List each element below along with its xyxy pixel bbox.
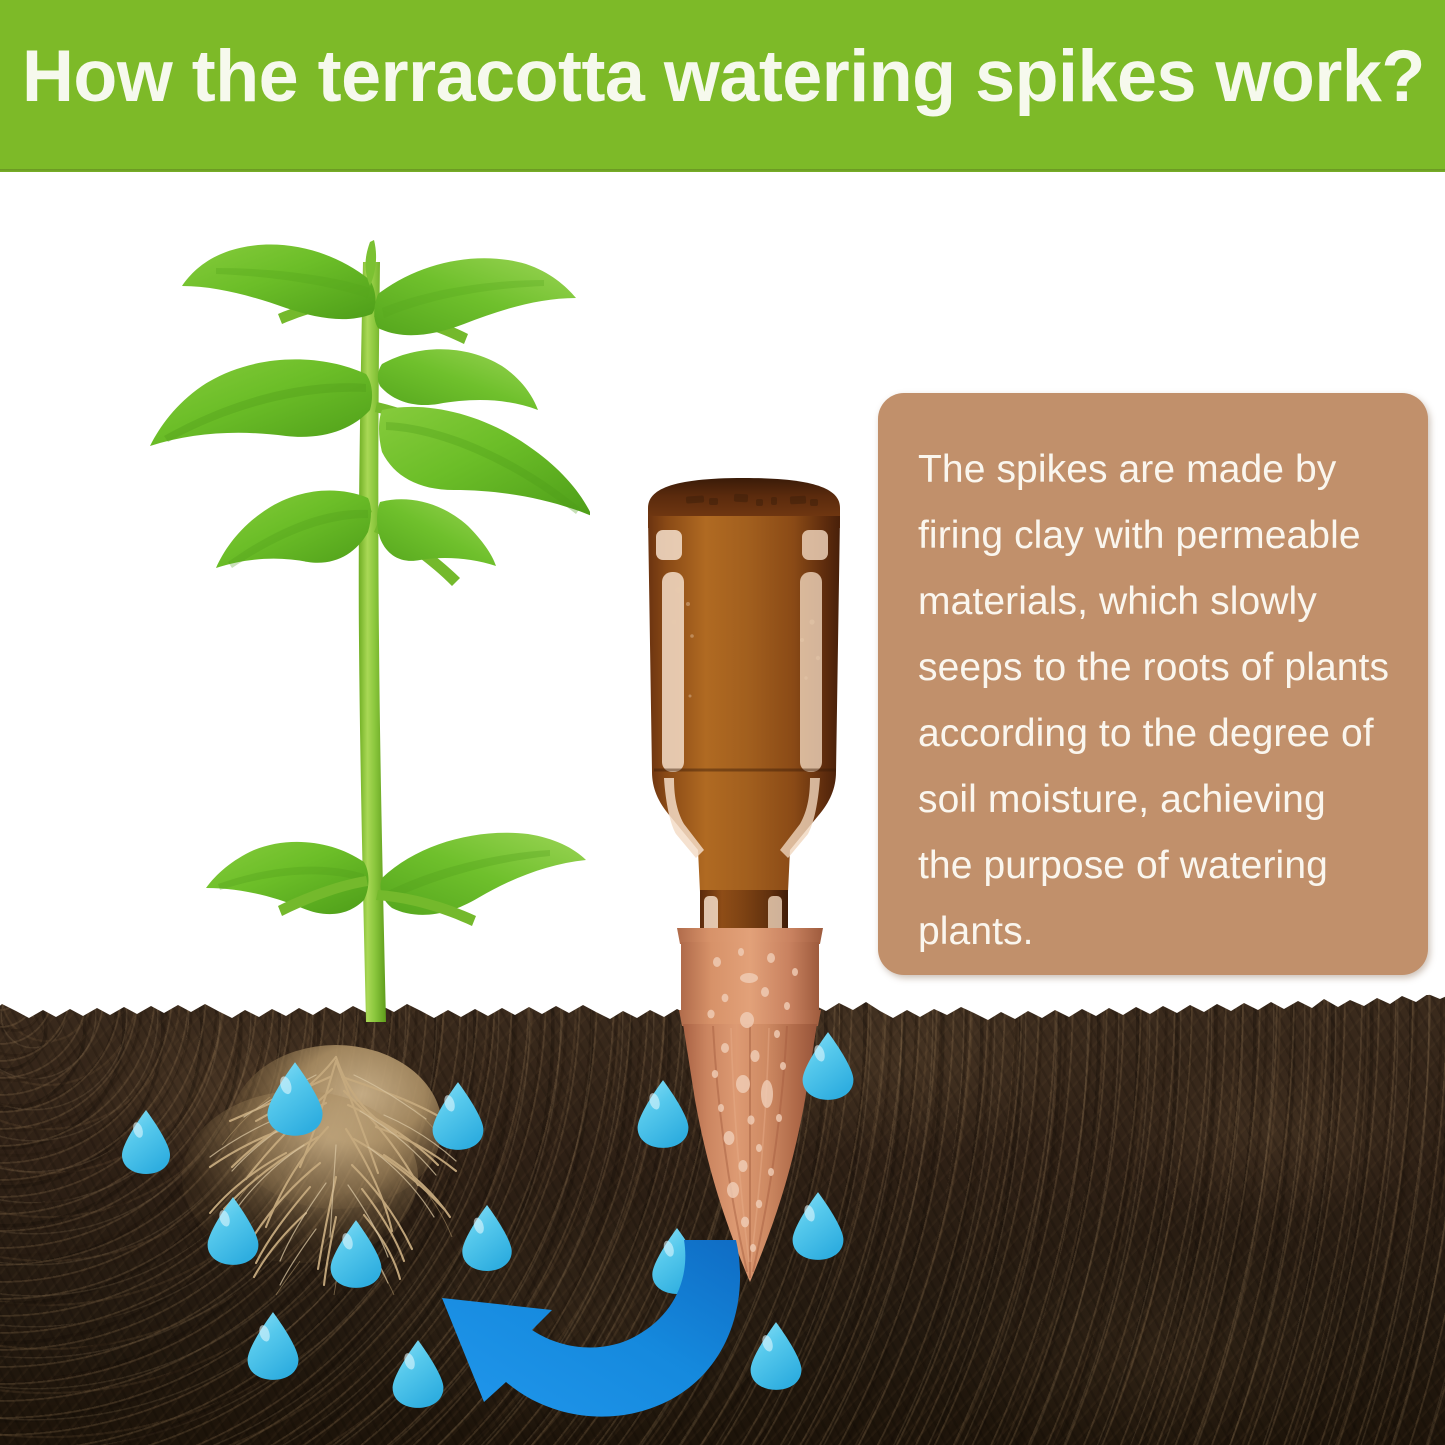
water-droplet [205, 1195, 261, 1267]
water-droplet [328, 1218, 384, 1290]
leaf-mid-right-upper [378, 349, 538, 410]
info-card-text: The spikes are made by firing clay with … [918, 437, 1390, 965]
water-droplet [120, 1108, 172, 1176]
water-droplet [245, 1310, 301, 1382]
page-title: How the terracotta watering spikes work? [22, 34, 1411, 120]
water-flow-arrow [420, 1232, 820, 1445]
water-droplet [430, 1080, 486, 1152]
pepper-seedling [120, 202, 590, 1032]
water-droplet [635, 1078, 691, 1150]
water-droplet [265, 1060, 325, 1138]
arrow-curve [442, 1240, 740, 1417]
header-banner: How the terracotta watering spikes work? [0, 0, 1445, 172]
leaf-lower-right-small [377, 499, 496, 566]
spike-collar [677, 928, 823, 944]
water-droplet [800, 1030, 856, 1102]
infographic-page: How the terracotta watering spikes work? [0, 0, 1445, 1445]
info-card: The spikes are made by firing clay with … [878, 393, 1428, 975]
leaf-top-right [374, 258, 576, 335]
inverted-amber-glass-bottle [630, 472, 860, 972]
